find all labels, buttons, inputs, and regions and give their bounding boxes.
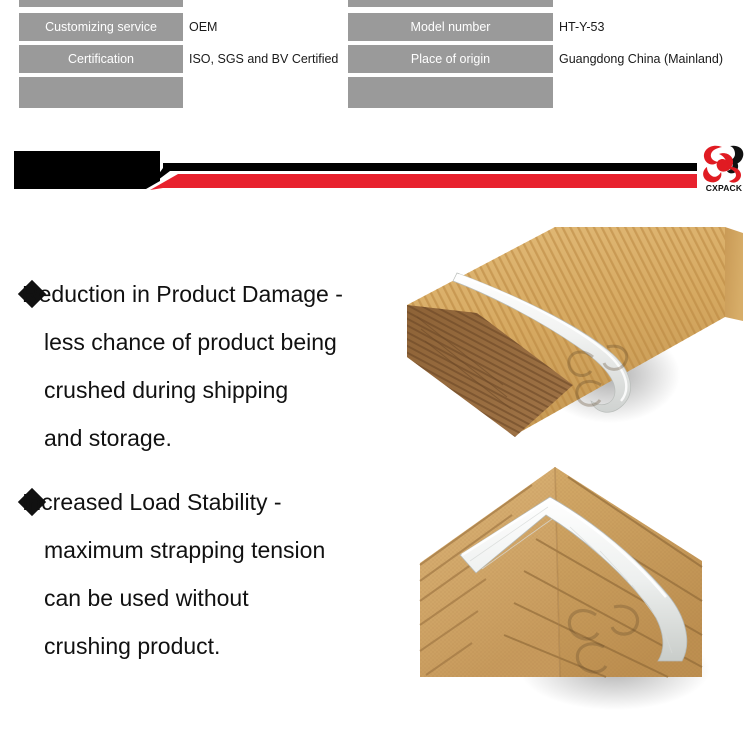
spec-label-model-number: Model number bbox=[348, 13, 553, 41]
features-banner: Features bbox=[0, 143, 750, 198]
feature-line: Increased Load Stability - bbox=[0, 478, 400, 526]
spec-label-customizing-service: Customizing service bbox=[19, 13, 183, 41]
table-row: Usage Transverse bending strength bbox=[0, 0, 750, 8]
table-row: Certification ISO, SGS and BV Certified … bbox=[0, 44, 750, 74]
spec-label-certification: Certification bbox=[19, 45, 183, 73]
table-row: Customizing service OEM Model number HT-… bbox=[0, 12, 750, 42]
spec-value-customizing-service: OEM bbox=[189, 13, 344, 41]
product-photo-corner-board bbox=[400, 455, 750, 710]
board-right-face bbox=[725, 227, 743, 321]
feature-line: can be used without bbox=[0, 574, 400, 622]
feature-line: crushed during shipping bbox=[0, 366, 400, 414]
banner-red-bar bbox=[150, 174, 697, 190]
feature-line: less chance of product being bbox=[0, 318, 400, 366]
spec-value-place-of-origin: Guangdong China (Mainland) bbox=[559, 45, 749, 73]
feature-line: crushing product. bbox=[0, 622, 400, 670]
spec-value-usage bbox=[189, 0, 344, 7]
spec-label-place-of-origin: Place of origin bbox=[348, 45, 553, 73]
logo-wordmark: CXPACK bbox=[700, 183, 748, 193]
spec-label-usage: Usage bbox=[19, 0, 183, 7]
feature-line: maximum strapping tension bbox=[0, 526, 400, 574]
banner-black-box bbox=[14, 151, 160, 189]
spec-value-bending-strength bbox=[559, 0, 749, 7]
list-item: Increased Load Stability - maximum strap… bbox=[0, 478, 400, 670]
spec-value-model-number: HT-Y-53 bbox=[559, 13, 749, 41]
product-photo-edge-board bbox=[395, 225, 750, 455]
cxpack-logo: CXPACK bbox=[700, 142, 748, 196]
feature-line: and storage. bbox=[0, 414, 400, 462]
table-row-empty bbox=[0, 76, 750, 108]
spec-label-empty-right bbox=[348, 77, 553, 108]
specification-table: Usage Transverse bending strength Custom… bbox=[0, 0, 750, 120]
spec-label-bending-strength: Transverse bending strength bbox=[348, 0, 553, 7]
spec-label-empty-left bbox=[19, 77, 183, 108]
product-detail-page: Usage Transverse bending strength Custom… bbox=[0, 0, 750, 750]
spec-value-certification: ISO, SGS and BV Certified bbox=[189, 45, 344, 73]
features-list: Reduction in Product Damage - less chanc… bbox=[0, 270, 400, 686]
feature-line: Reduction in Product Damage - bbox=[0, 270, 400, 318]
list-item: Reduction in Product Damage - less chanc… bbox=[0, 270, 400, 462]
logo-pinwheel-mark bbox=[703, 146, 743, 183]
